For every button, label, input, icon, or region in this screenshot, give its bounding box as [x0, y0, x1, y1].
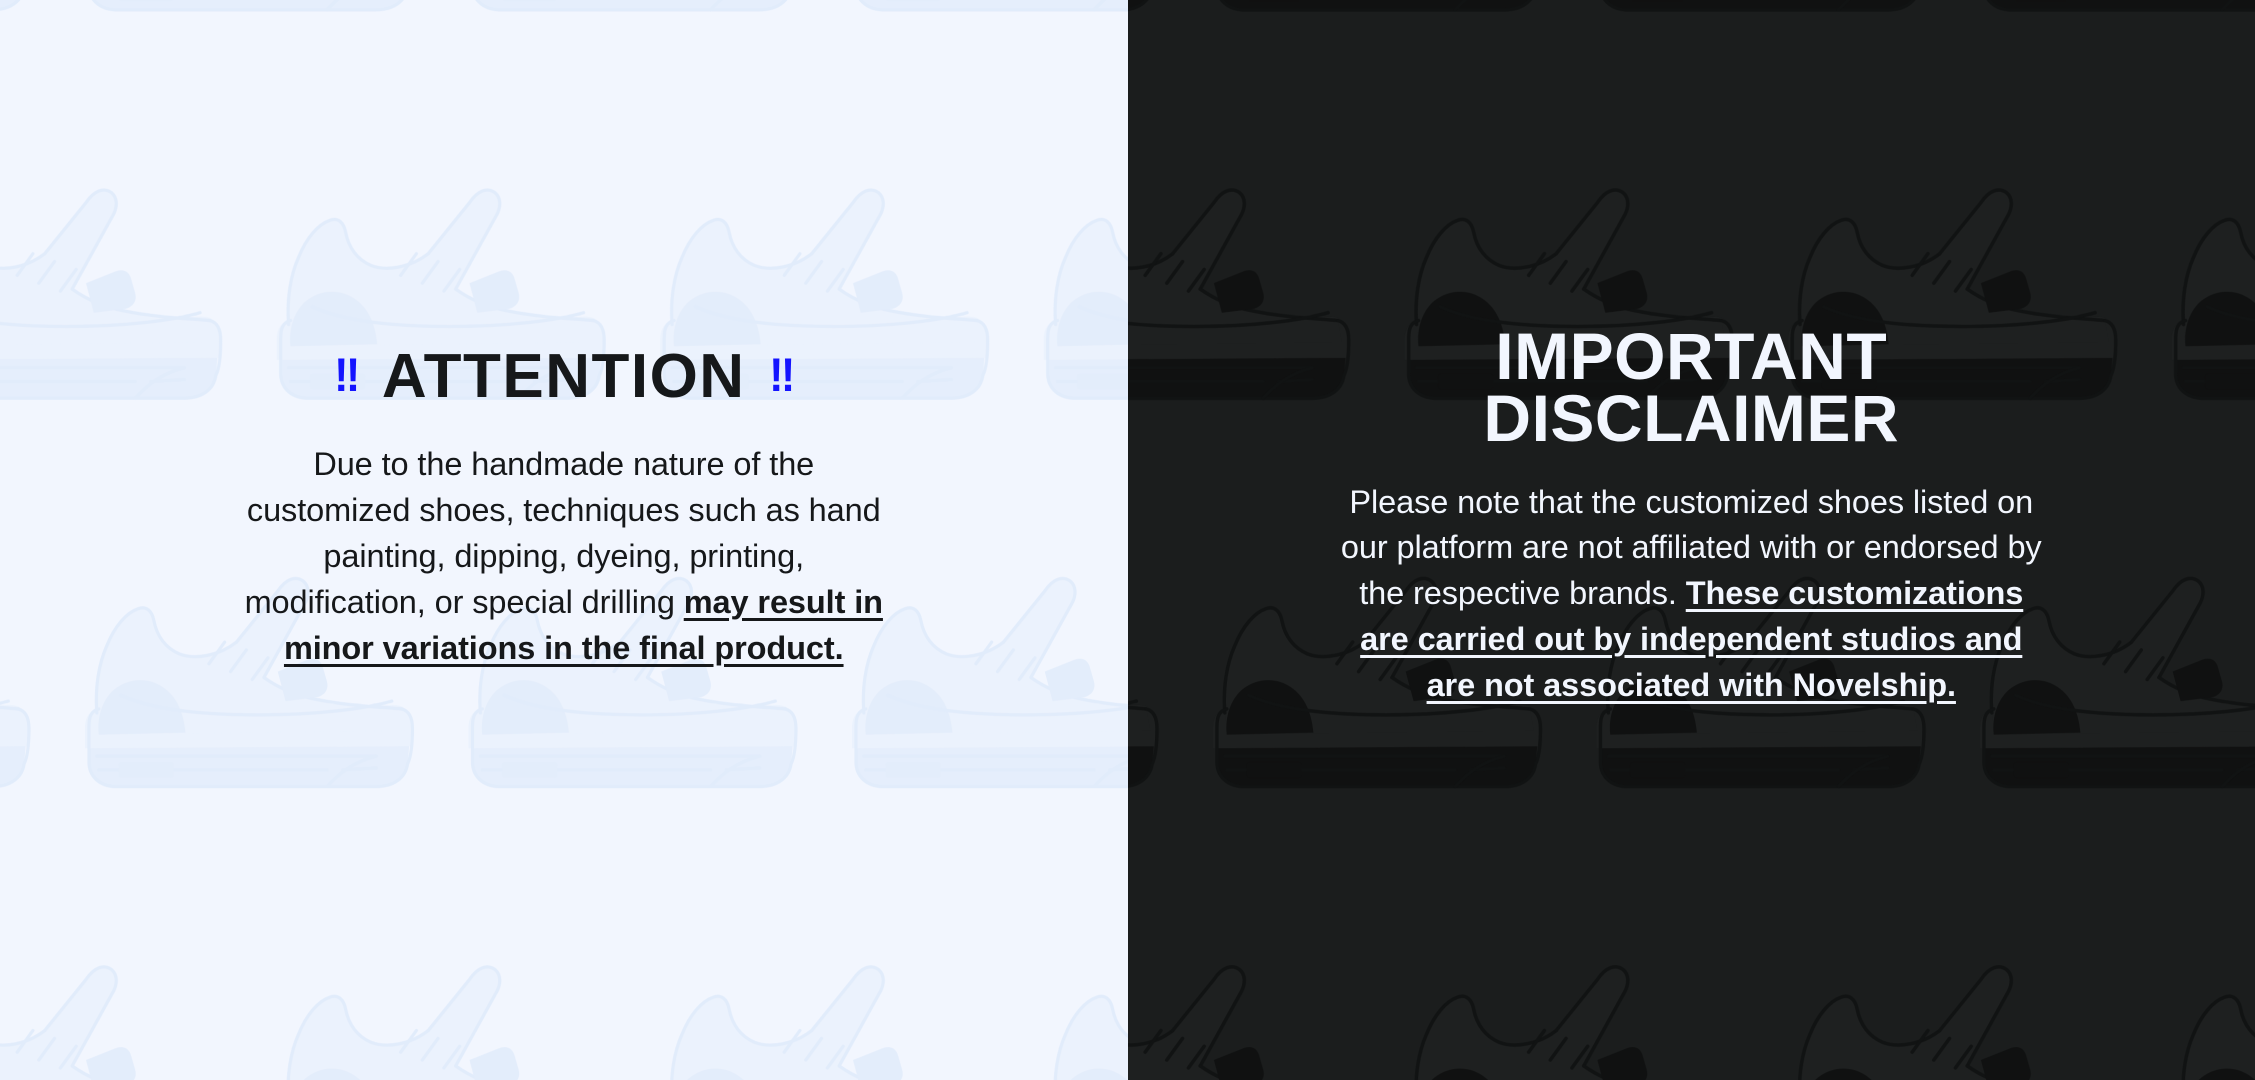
customization-notice-banner: ‼ATTENTION‼ Due to the handmade nature o… [0, 0, 2255, 1080]
disclaimer-panel: IMPORTANT DISCLAIMER Please note that th… [1128, 0, 2255, 1080]
disclaimer-heading: IMPORTANT DISCLAIMER [1248, 325, 2136, 449]
attention-heading-text: ATTENTION [382, 342, 746, 411]
disclaimer-heading-line-2: DISCLAIMER [1248, 387, 2136, 449]
disclaimer-body: Please note that the customized shoes li… [1335, 480, 2047, 709]
double-exclamation-icon-right: ‼ [769, 351, 794, 398]
attention-panel: ‼ATTENTION‼ Due to the handmade nature o… [0, 0, 1128, 1080]
double-exclamation-icon-left: ‼ [334, 351, 359, 398]
attention-content: ‼ATTENTION‼ Due to the handmade nature o… [0, 346, 1128, 671]
disclaimer-content: IMPORTANT DISCLAIMER Please note that th… [1128, 325, 2255, 708]
attention-heading: ‼ATTENTION‼ [96, 346, 1032, 408]
disclaimer-heading-line-1: IMPORTANT [1248, 325, 2136, 387]
attention-body: Due to the handmade nature of the custom… [240, 442, 888, 671]
